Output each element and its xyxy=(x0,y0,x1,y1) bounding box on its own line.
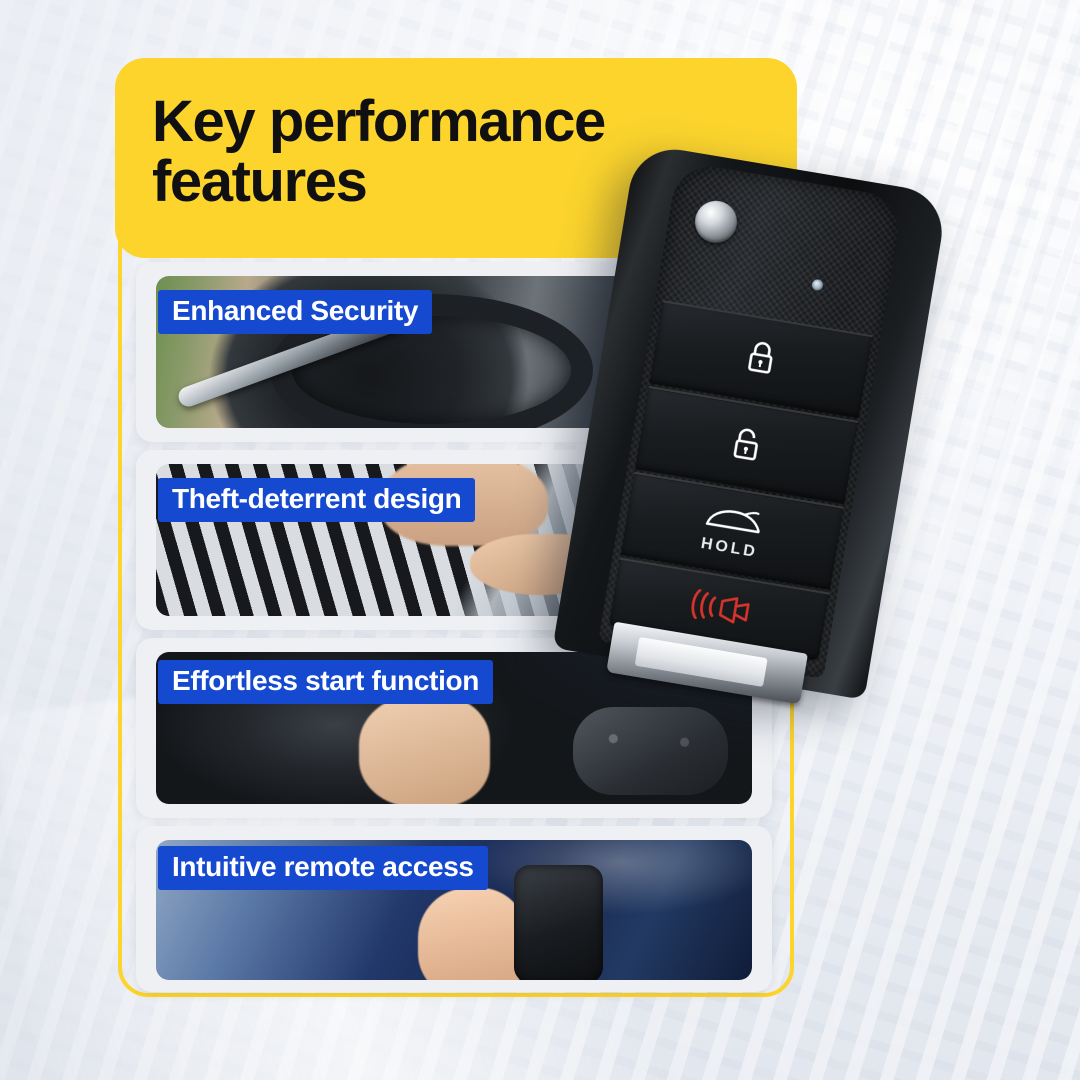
infographic-canvas: Key performance features Enhanced Securi… xyxy=(0,0,1080,1080)
padlock-closed-icon xyxy=(741,337,781,383)
feature-label-effortless-start: Effortless start function xyxy=(158,660,493,704)
padlock-open-icon xyxy=(726,423,766,469)
feature-label-enhanced-security: Enhanced Security xyxy=(158,290,432,334)
horn-alarm-icon xyxy=(681,587,758,633)
feature-card-intuitive-remote: Intuitive remote access xyxy=(136,826,772,992)
feature-label-theft-deterrent: Theft-deterrent design xyxy=(158,478,475,522)
feature-label-intuitive-remote: Intuitive remote access xyxy=(158,846,488,890)
key-blade-insert xyxy=(635,637,767,687)
